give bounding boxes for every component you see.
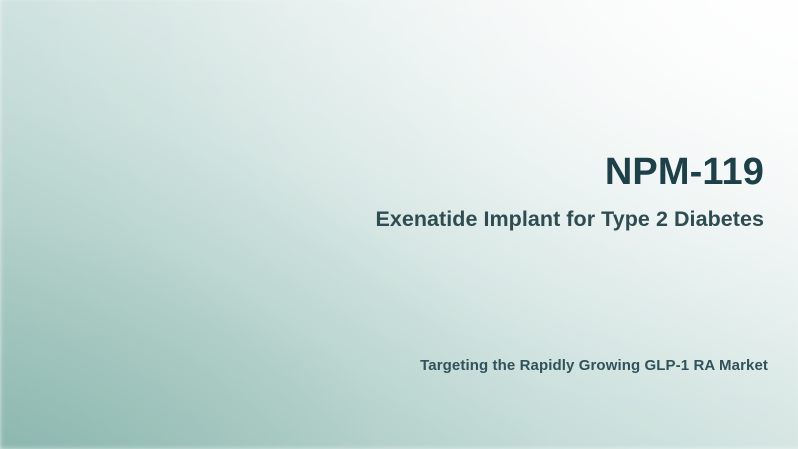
title-slide: NPM-119 Exenatide Implant for Type 2 Dia… bbox=[0, 0, 798, 449]
slide-content: NPM-119 Exenatide Implant for Type 2 Dia… bbox=[0, 0, 798, 449]
page-title: NPM-119 bbox=[244, 152, 764, 192]
page-tagline: Targeting the Rapidly Growing GLP-1 RA M… bbox=[208, 356, 768, 375]
tagline-block: Targeting the Rapidly Growing GLP-1 RA M… bbox=[208, 356, 768, 375]
page-subtitle: Exenatide Implant for Type 2 Diabetes bbox=[244, 206, 764, 232]
title-block: NPM-119 Exenatide Implant for Type 2 Dia… bbox=[244, 152, 764, 232]
